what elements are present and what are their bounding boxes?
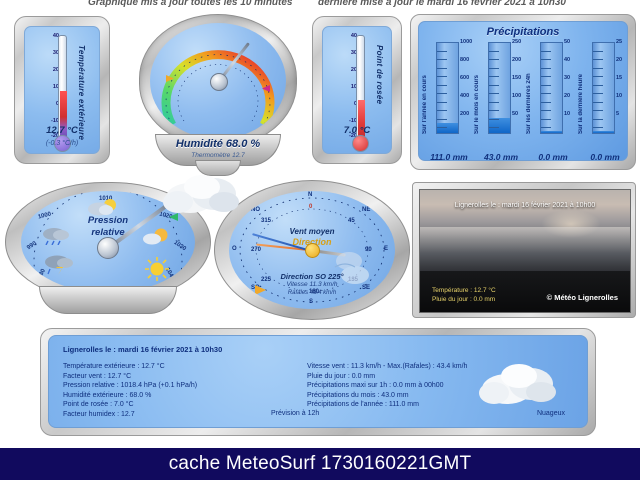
cloud-decoration-icon <box>160 172 244 218</box>
precip-col2-label: Sur les dernières 24h <box>526 48 532 134</box>
webcam-temperature: Température : 12.7 °C <box>432 287 496 294</box>
precip-col1-tube <box>488 42 511 134</box>
thermometer-outside-tube <box>58 35 67 139</box>
humidity-gauge: Humidité 68.0 % Thermomètre 12.7 <box>133 12 303 174</box>
storm-cloud-icon <box>43 253 75 275</box>
rain-cloud-icon <box>41 225 71 245</box>
precip-col3-tube <box>592 42 615 134</box>
thermometer-dew-tube <box>356 35 365 139</box>
thermometer-dew-value: 7.0 °C <box>323 125 391 136</box>
webcam-panel[interactable]: Lignerolles le : mardi 16 février 2021 à… <box>412 182 636 318</box>
precipitation-column-hour: Sur la dernière heure 25 20 15 10 5 <box>579 42 628 150</box>
precip-value-24h: 0.0 mm <box>525 152 581 161</box>
thermometer-dew-point: 40 30 20 10 0 -10 -20 Point de rosée 7.0… <box>312 16 402 164</box>
summary-info-face: Lignerolles le : mardi 16 février 2021 à… <box>48 335 588 428</box>
precip-col0-label: Sur l'année en cours <box>422 48 428 134</box>
precipitation-column-month: Sur le mois en cours 250 200 150 100 50 <box>475 42 525 150</box>
precipitation-title: Précipitations <box>419 26 627 38</box>
thermometer-dew-face: 40 30 20 10 0 -10 -20 Point de rosée 7.0… <box>322 26 392 154</box>
webcam-cloud-band <box>420 227 630 254</box>
humidity-needle-hub <box>210 73 228 91</box>
caption-bar: cache MeteoSurf 1730160221GMT <box>0 448 640 480</box>
summary-row: Point de rosée : 7.0 °C <box>63 400 315 410</box>
header-right-text: dernière mise à jour le mardi 16 février… <box>318 0 566 8</box>
thermometer-outside-ticks: 40 30 20 10 0 -10 -20 <box>33 35 59 139</box>
forecast-label: Prévision à 12h <box>271 410 319 417</box>
summary-heading: Lignerolles le : mardi 16 février 2021 à… <box>63 345 222 354</box>
precipitation-column-24h: Sur les dernières 24h 50 40 30 20 10 <box>527 42 577 150</box>
humidity-gauge-face <box>150 23 286 139</box>
header-left-text: Graphique mis à jour toutes les 10 minut… <box>88 0 293 8</box>
precip-col2-tube <box>540 42 563 134</box>
summary-info-panel: Lignerolles le : mardi 16 février 2021 à… <box>40 328 596 436</box>
wind-needle-hub <box>305 243 320 258</box>
webcam-image[interactable]: Lignerolles le : mardi 16 février 2021 à… <box>419 189 631 313</box>
header-strip: Graphique mis à jour toutes les 10 minut… <box>0 0 640 11</box>
precipitation-panel: Précipitations Sur l'année en cours 1000… <box>410 14 636 170</box>
thermometer-dew-bulb <box>352 135 369 152</box>
weather-dashboard: Graphique mis à jour toutes les 10 minut… <box>0 0 640 480</box>
sun-icon <box>145 257 169 281</box>
precip-col0-tube <box>436 42 459 134</box>
wind-gust-value: Rafales 43.4 km/h <box>214 290 410 296</box>
precip-value-year: 111.0 mm <box>421 152 477 161</box>
forecast-cloudy-icon <box>475 361 559 407</box>
thermometer-outside-face: 40 30 20 10 0 -10 -20 Température extéri… <box>24 26 100 154</box>
summary-row: Facteur vent : 12.7 °C <box>63 372 315 382</box>
thermometer-dew-label: Point de rosée <box>375 45 384 104</box>
precip-col3-label: Sur la dernière heure <box>578 48 584 134</box>
caption-text: cache MeteoSurf 1730160221GMT <box>169 453 472 475</box>
thermometer-dew-ticks: 40 30 20 10 0 -10 -20 <box>331 35 357 139</box>
thermometer-outside-trend: (-0.3 °C/h) <box>25 140 99 147</box>
summary-row: Pression relative : 1018.4 hPa (+0.1 hPa… <box>63 381 315 391</box>
wind-speed-value: Vitesse 11.3 km/h <box>214 281 410 288</box>
thermometer-outside-value: 12.7 °C <box>25 125 99 136</box>
precip-col1-label: Sur le mois en cours <box>474 48 480 134</box>
barometer-needle-hub <box>97 237 119 259</box>
wind-direction-value: Direction SO 225° <box>214 272 410 281</box>
humidity-value-text: Humidité 68.0 % <box>133 138 303 150</box>
precip-value-hour: 0.0 mm <box>577 152 628 161</box>
cloud-sun-icon <box>87 197 117 219</box>
webcam-watermark: © Météo Lignerolles <box>547 293 618 302</box>
humidity-subtitle: Thermomètre 12.7 <box>133 152 303 159</box>
summary-row: Température extérieure : 12.7 °C <box>63 362 315 372</box>
precip-value-month: 43.0 mm <box>473 152 529 161</box>
precipitation-face: Précipitations Sur l'année en cours 1000… <box>418 21 628 161</box>
summary-row: Humidité extérieure : 68.0 % <box>63 391 315 401</box>
forecast-condition: Nuageux <box>537 410 565 417</box>
webcam-timestamp: Lignerolles le : mardi 16 février 2021 à… <box>420 202 630 209</box>
barometer-base: 1018.4 hPa (+0.1 hPa/h) Min: 997.2 hPa <box>39 286 177 314</box>
thermometer-outside-temperature: 40 30 20 10 0 -10 -20 Température extéri… <box>14 16 110 164</box>
webcam-rain: Pluie du jour : 0.0 mm <box>432 296 495 303</box>
precipitation-column-year: Sur l'année en cours 1000 800 600 400 20… <box>423 42 473 150</box>
sun-cloud-icon <box>141 227 171 247</box>
